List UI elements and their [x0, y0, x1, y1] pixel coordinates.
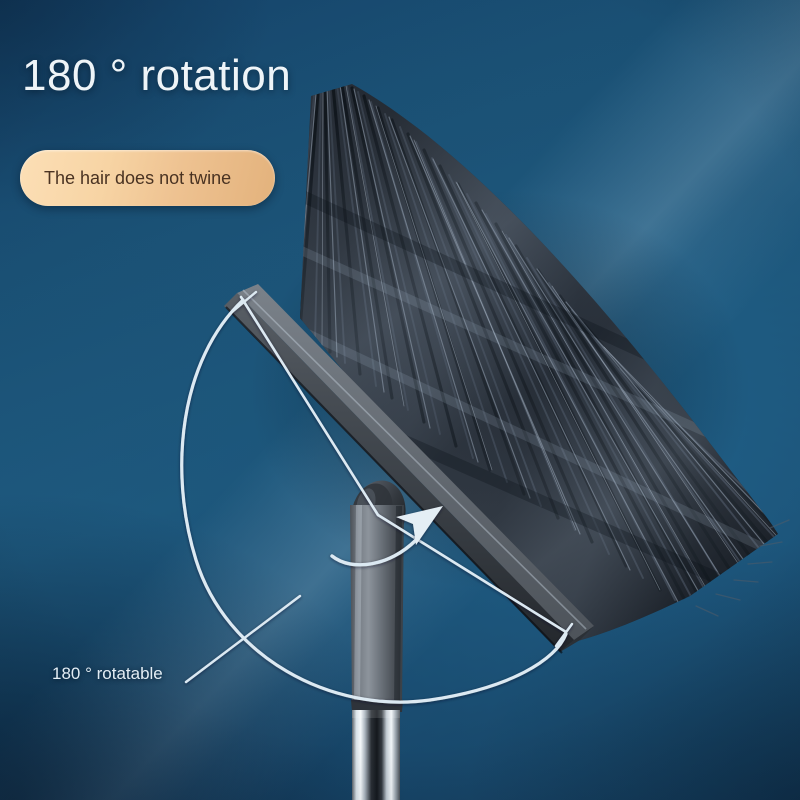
rotation-arrow [332, 506, 443, 565]
arc-tick-upper [232, 292, 256, 312]
feature-badge-label: The hair does not twine [20, 167, 245, 190]
rotation-caption: 180 ° rotatable [52, 664, 163, 684]
feature-badge: The hair does not twine [20, 150, 275, 206]
radius-line-upper [241, 297, 378, 515]
radius-line-lower [378, 515, 566, 632]
product-marketing-image: 180 ° rotation The hair does not twine 1… [0, 0, 800, 800]
page-title: 180 ° rotation [22, 50, 291, 102]
